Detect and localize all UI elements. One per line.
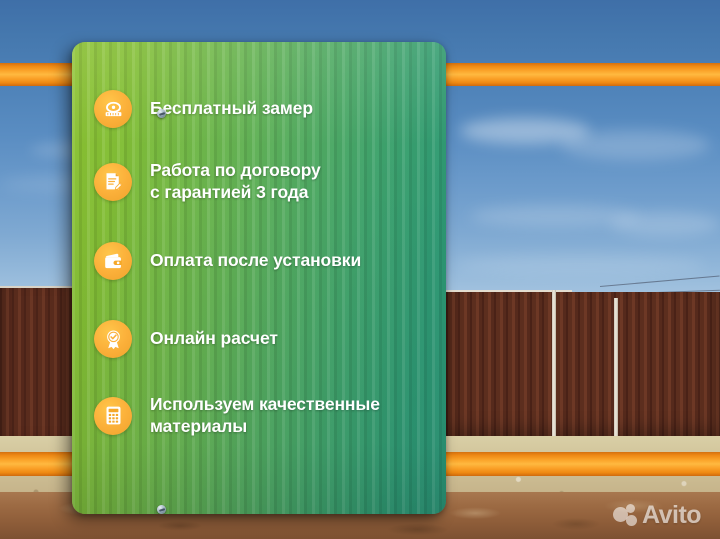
cloud — [610, 212, 720, 236]
screw-top-left — [157, 109, 166, 118]
ad-image-canvas: Бесплатный замер — [0, 0, 720, 539]
list-item: Онлайн расчет — [94, 320, 278, 358]
list-item-label: Онлайн расчет — [150, 328, 278, 350]
avito-watermark: Avito — [613, 503, 701, 528]
list-item: Используем качественные материалы — [94, 394, 380, 437]
award-badge-check-icon — [94, 320, 132, 358]
wallet-icon — [94, 242, 132, 280]
list-item: Работа по договору с гарантией 3 года — [94, 160, 321, 203]
cloud — [455, 255, 705, 275]
list-item-label: Оплата после установки — [150, 250, 361, 272]
feature-list: Бесплатный замер — [72, 42, 446, 514]
cloud — [560, 130, 710, 160]
avito-wordmark: Avito — [642, 503, 701, 528]
list-item-label: Бесплатный замер — [150, 98, 313, 120]
list-item-label: Используем качественные материалы — [150, 394, 380, 437]
green-sign-panel: Бесплатный замер — [72, 42, 446, 514]
fence-post — [614, 298, 618, 446]
fence-post — [552, 290, 556, 445]
fence-panel-right — [446, 292, 720, 442]
screw-bottom-left — [157, 505, 166, 514]
list-item: Оплата после установки — [94, 242, 361, 280]
contract-document-pencil-icon — [94, 163, 132, 201]
calculator-icon — [94, 397, 132, 435]
avito-logo-icon — [613, 504, 639, 528]
measuring-tape-icon — [94, 90, 132, 128]
list-item-label: Работа по договору с гарантией 3 года — [150, 160, 321, 203]
list-item: Бесплатный замер — [94, 90, 313, 128]
